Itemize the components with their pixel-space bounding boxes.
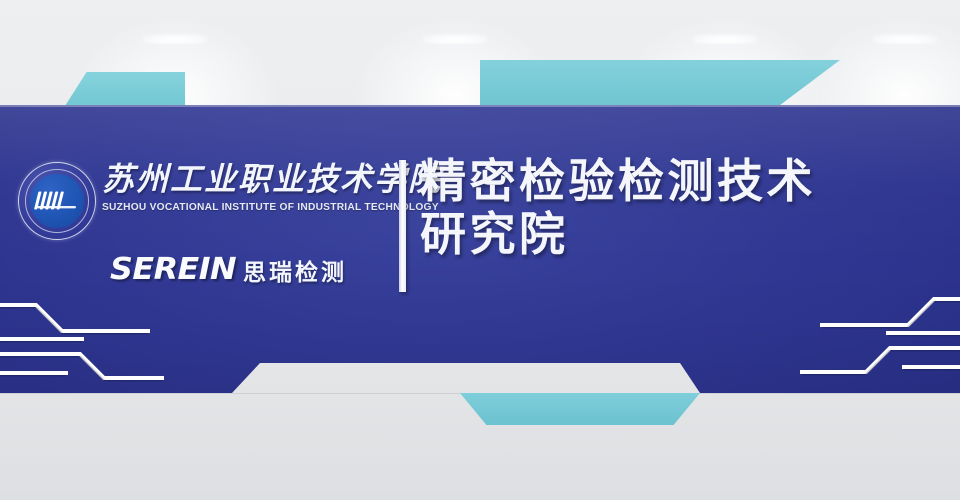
institute-title-line-2: 研究院 — [420, 208, 950, 261]
teal-parallelogram-top-right — [480, 60, 840, 106]
vertical-divider-bar — [399, 160, 406, 292]
university-emblem: 苏州工业职业技术学院 — [18, 162, 96, 240]
board-top-highlight — [0, 105, 960, 107]
circuit-lines-left — [0, 297, 240, 387]
circuit-lines-right — [780, 291, 960, 391]
teal-trapezoid-bottom — [460, 393, 700, 425]
wall-lamp-4 — [873, 34, 937, 44]
wall-lamp-2 — [423, 34, 487, 44]
signage-scene: 苏州工业职业技术学院 苏州工业职业技术学院 SUZHOU VOCATIONAL … — [0, 0, 960, 500]
university-name-en: SUZHOU VOCATIONAL INSTITUTE OF INDUSTRIA… — [102, 202, 398, 213]
brand-name-cn: 思瑞检测 — [243, 253, 347, 287]
brand-block: SEREIN 思瑞检测 — [110, 252, 400, 287]
emblem-siit-mark: 苏州工业职业技术学院 — [18, 162, 96, 240]
wall-lamp-3 — [693, 34, 757, 44]
institute-title-line-1: 精密检验检测技术 — [420, 155, 950, 208]
university-name-cn: 苏州工业职业技术学院 — [102, 163, 398, 197]
brand-latin-wordmark: SEREIN — [110, 252, 236, 287]
svg-text:苏州工业职业技术学院: 苏州工业职业技术学院 — [74, 220, 96, 240]
institute-title: 精密检验检测技术 研究院 — [420, 155, 950, 262]
wall-lamp-1 — [143, 34, 207, 44]
university-name-block: 苏州工业职业技术学院 SUZHOU VOCATIONAL INSTITUTE O… — [102, 163, 398, 213]
